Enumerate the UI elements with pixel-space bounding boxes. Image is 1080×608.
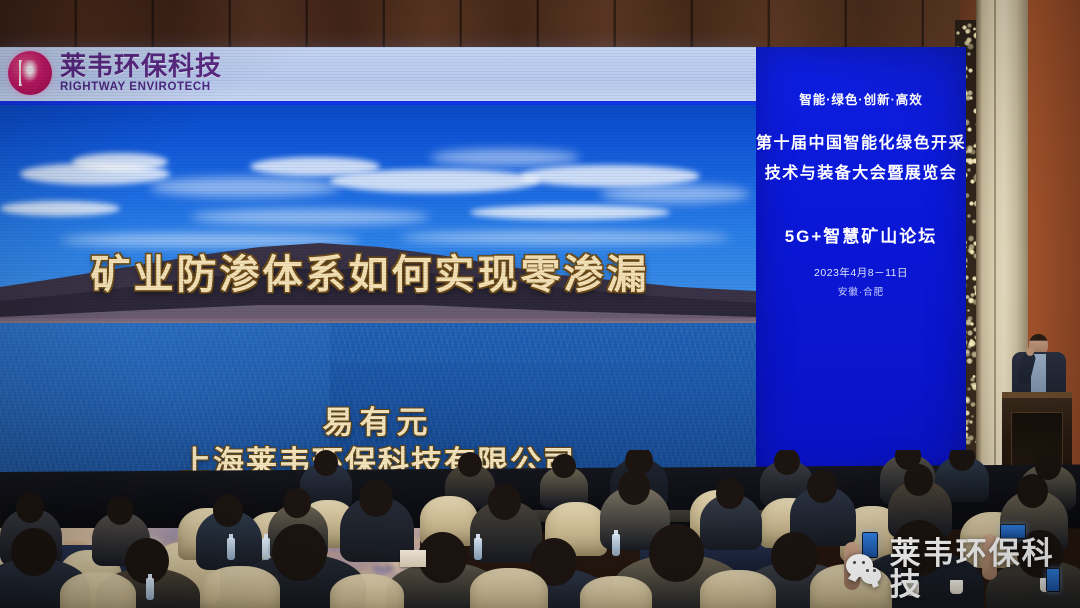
light-bead xyxy=(967,309,970,312)
audience-head xyxy=(125,538,169,584)
audience-head xyxy=(458,452,482,477)
water-bottle xyxy=(146,578,154,600)
conference-banner: 智能·绿色·创新·高效 第十届中国智能化绿色开采 技术与装备大会暨展览会 5G+… xyxy=(756,47,966,479)
audience-head xyxy=(649,524,704,582)
wechat-icon xyxy=(846,554,881,584)
name-tent-card xyxy=(400,550,426,567)
light-bead xyxy=(967,127,972,132)
light-bead xyxy=(967,214,971,218)
audience-head xyxy=(1017,474,1048,508)
light-bead xyxy=(970,293,974,297)
audience-head xyxy=(11,528,57,576)
light-bead xyxy=(967,330,973,336)
banner-tagline: 智能·绿色·创新·高效 xyxy=(756,89,966,108)
banner-forum: 5G+智慧矿山论坛 xyxy=(756,222,966,247)
light-bead xyxy=(967,248,972,253)
light-bead xyxy=(956,31,960,35)
audience-chair xyxy=(60,572,136,608)
light-bead xyxy=(968,235,974,241)
conference-photo: 莱韦环保科技 RIGHTWAY ENVIROTECH xyxy=(0,0,1080,608)
audience-head xyxy=(16,492,45,523)
light-bead xyxy=(967,52,972,57)
slide-speaker-name: 易有元 xyxy=(0,397,756,442)
company-logo: 莱韦环保科技 RIGHTWAY ENVIROTECH xyxy=(8,51,222,95)
audience-head xyxy=(107,496,134,525)
slide-title: 矿业防渗体系如何实现零渗漏 xyxy=(0,242,740,300)
audience-head xyxy=(716,478,745,509)
banner-date: 2023年4月8－11日 xyxy=(756,265,966,280)
light-bead xyxy=(968,68,973,73)
logo-chinese-name: 莱韦环保科技 xyxy=(60,53,222,79)
water-bottle xyxy=(612,534,620,556)
audience-head xyxy=(213,494,243,527)
audience-head xyxy=(283,488,311,518)
banner-place: 安徽·合肥 xyxy=(756,284,966,298)
light-bead xyxy=(965,29,970,34)
banner-title-line2: 技术与装备大会暨展览会 xyxy=(756,159,966,189)
pillar-groove xyxy=(994,0,996,470)
light-bead xyxy=(971,415,974,418)
wechat-watermark: 莱韦环保科技 xyxy=(846,538,1080,600)
audience-chair xyxy=(700,570,776,608)
speaker-hand xyxy=(1026,347,1034,356)
audience-head xyxy=(552,454,575,478)
light-bead xyxy=(966,358,972,364)
audience-chair xyxy=(200,566,280,608)
audience-head xyxy=(359,480,393,517)
light-bead xyxy=(970,179,974,183)
audience-head xyxy=(272,524,327,581)
light-bead xyxy=(967,387,971,391)
audience-chair xyxy=(580,576,652,608)
light-bead xyxy=(970,339,973,342)
light-bead xyxy=(967,344,972,349)
logo-text: 莱韦环保科技 RIGHTWAY ENVIROTECH xyxy=(60,53,222,94)
light-bead xyxy=(969,420,973,424)
water-bottle xyxy=(262,538,270,560)
light-bead xyxy=(969,201,974,206)
led-screen: 莱韦环保科技 RIGHTWAY ENVIROTECH xyxy=(0,47,756,479)
logo-english-name: RIGHTWAY ENVIROTECH xyxy=(60,82,222,94)
banner-title: 第十届中国智能化绿色开采 技术与装备大会暨展览会 xyxy=(756,129,966,188)
light-bead xyxy=(967,158,974,165)
audience-chair xyxy=(470,568,548,608)
light-bead xyxy=(967,23,972,28)
watermark-text: 莱韦环保科技 xyxy=(890,538,1080,600)
light-bead xyxy=(969,96,973,100)
water-bottle xyxy=(474,538,482,560)
light-bead xyxy=(967,168,971,172)
audience-chair xyxy=(330,574,404,608)
audience-head xyxy=(488,484,521,520)
rightway-circular-emblem xyxy=(8,51,52,95)
brand-bar: 莱韦环保科技 RIGHTWAY ENVIROTECH xyxy=(0,47,756,105)
audience-head xyxy=(807,470,837,503)
banner-title-line1: 第十届中国智能化绿色开采 xyxy=(756,129,966,159)
audience-head xyxy=(618,470,650,505)
water-bottle xyxy=(227,538,235,560)
